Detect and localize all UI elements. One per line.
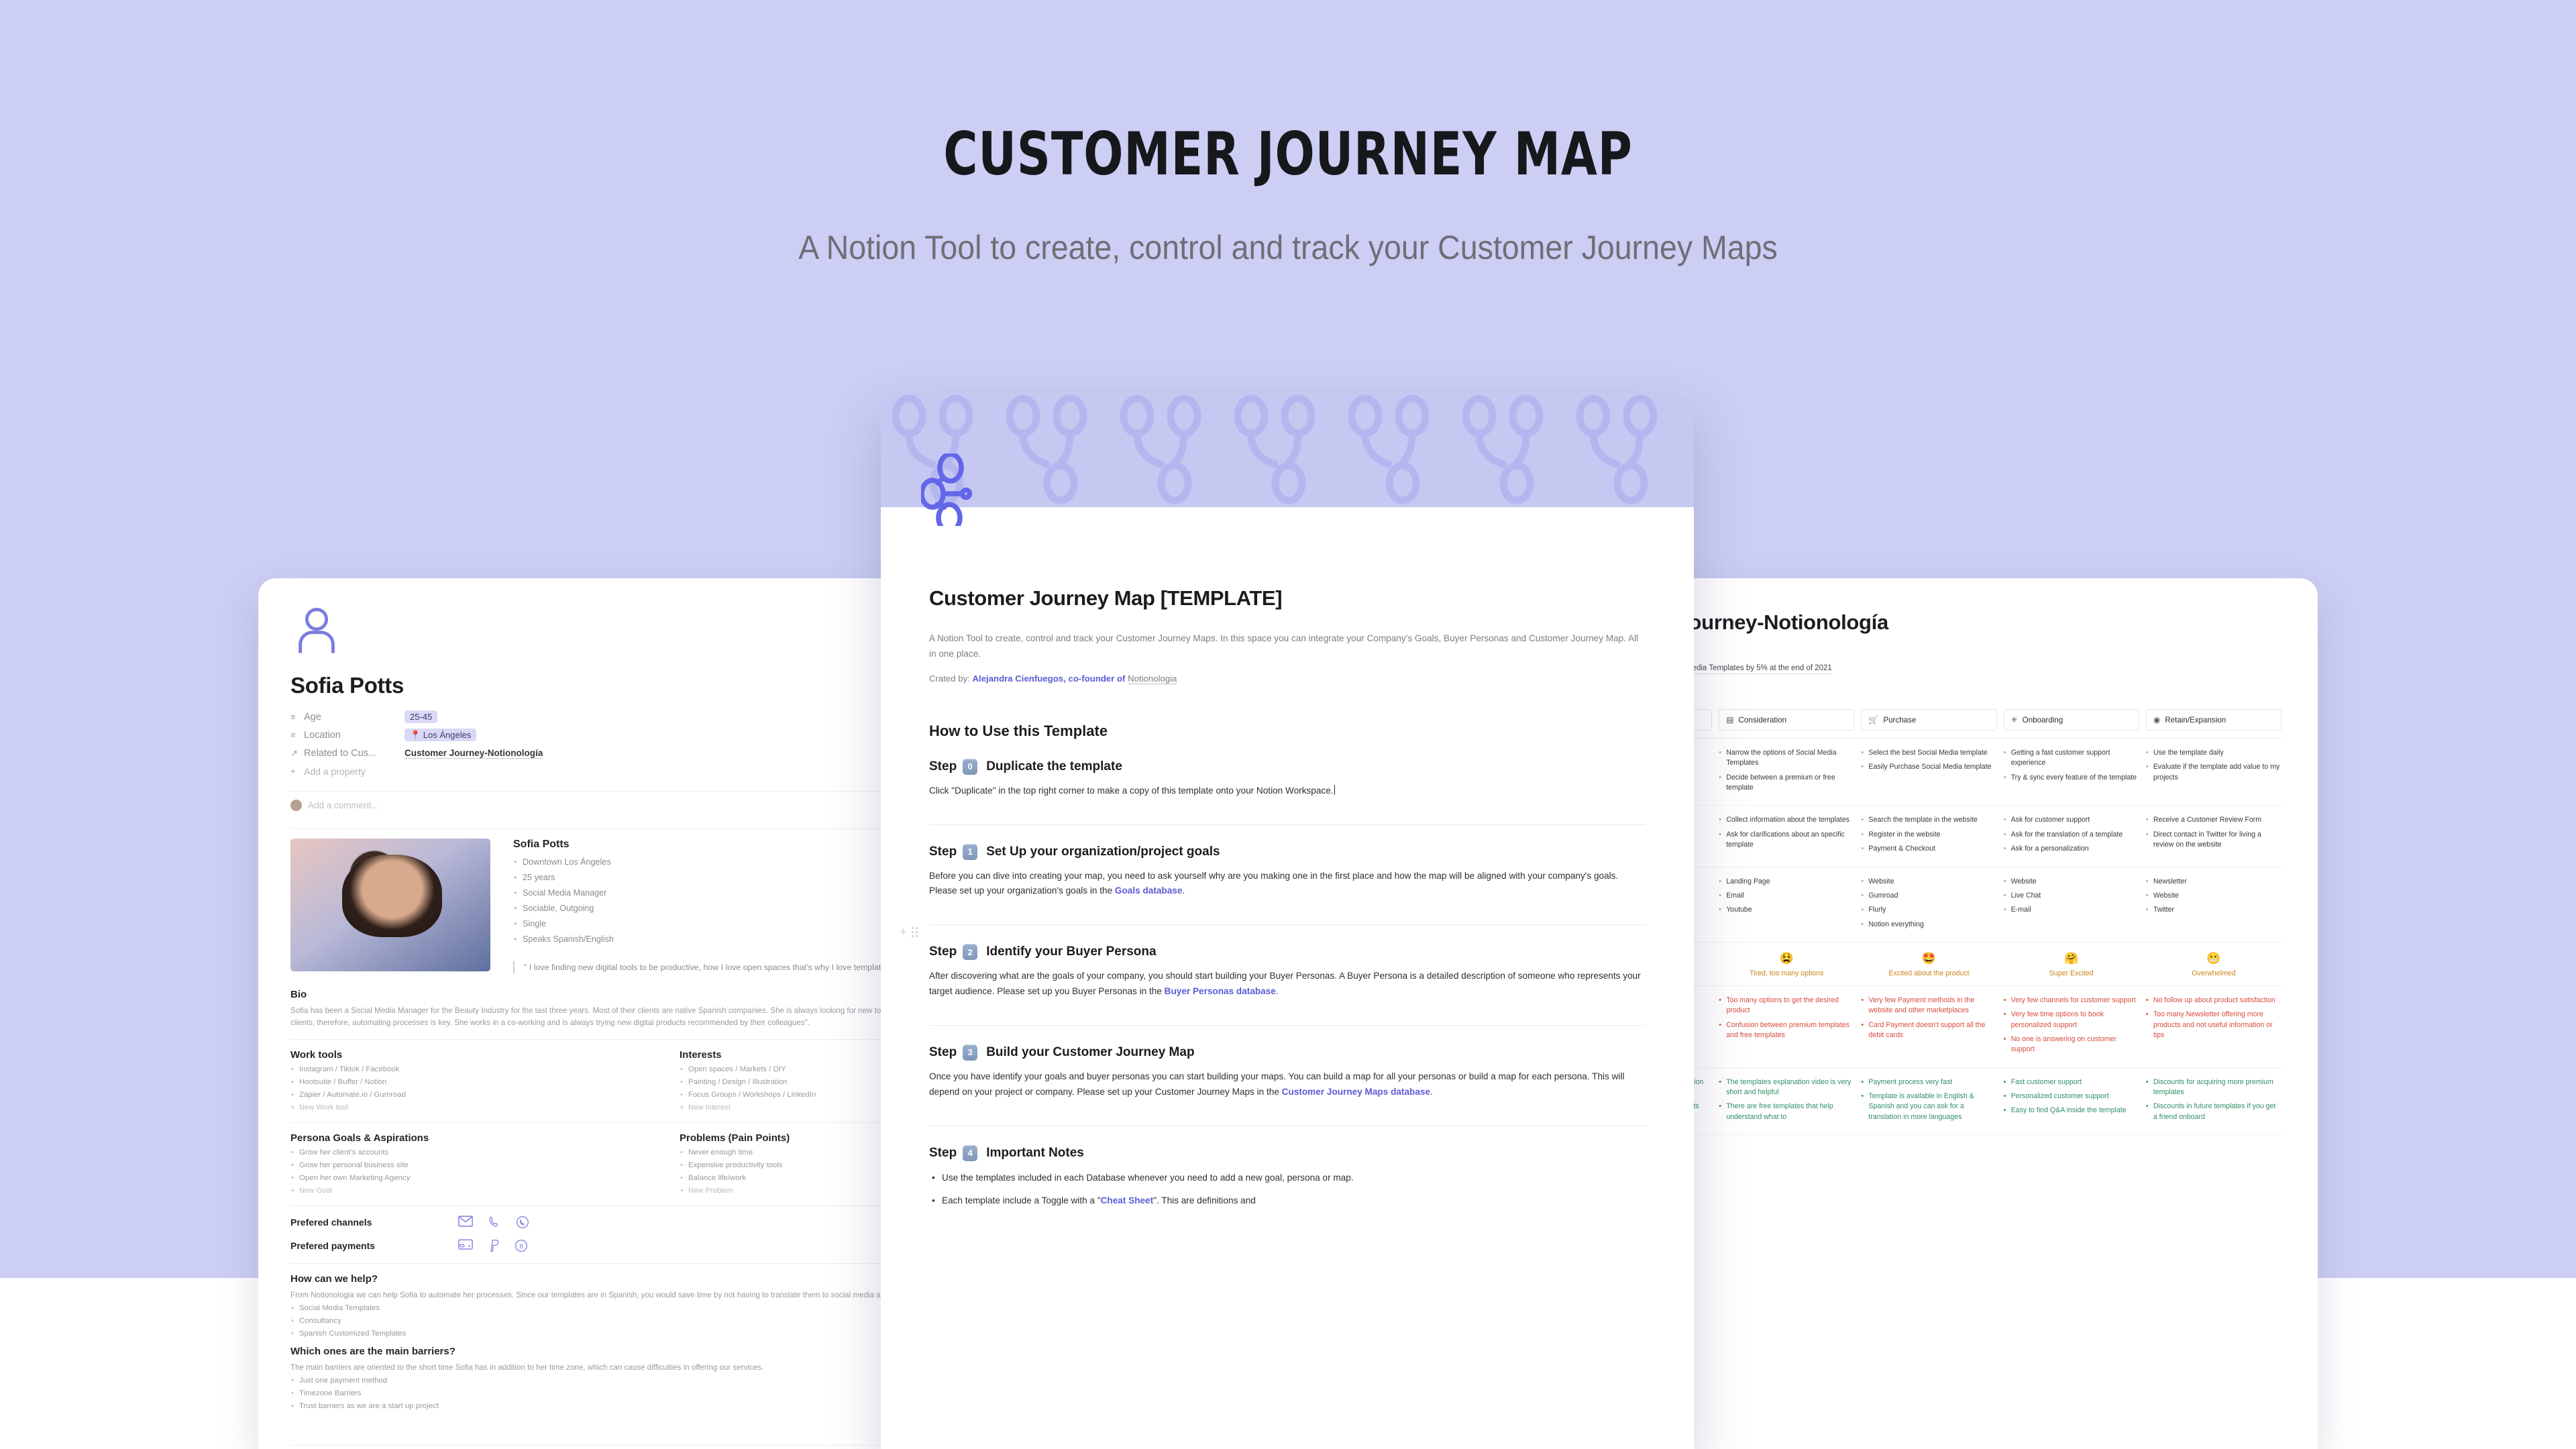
sparkle-icon: ✳ <box>2011 715 2018 724</box>
credit-link[interactable]: Notionologia <box>1128 674 1177 684</box>
list-item: Ask for a personalization <box>2004 844 2139 854</box>
text-cursor <box>1334 785 1336 795</box>
list-item: Very few channels for customer support <box>2004 996 2139 1006</box>
emotion-emoji: 😬 <box>2146 952 2282 965</box>
list-item: Payment process very fast <box>1861 1077 1996 1087</box>
work-tools-title: Work tools <box>290 1049 655 1061</box>
step-title: Build your Customer Journey Map <box>986 1045 1194 1060</box>
credit-author: Alejandra Cienfuegos, co-founder of <box>973 674 1126 684</box>
step-number-badge: 2 <box>963 944 977 960</box>
journey-cell[interactable]: WebsiteGumroadFlurlyNotion everything <box>1861 877 1996 934</box>
list-item: Very few time options to book personaliz… <box>2004 1010 2139 1030</box>
property-label: Location <box>304 730 405 741</box>
list-item: Narrow the options of Social Media Templ… <box>1719 748 1854 769</box>
cell-list: Landing PageEmailYoutube <box>1719 877 1854 916</box>
emotion-emoji: 🤩 <box>1861 952 1996 965</box>
cell-list: Very few channels for customer supportVe… <box>2004 996 2139 1055</box>
journey-cell[interactable]: Narrow the options of Social Media Templ… <box>1719 748 1854 797</box>
important-notes-list: Use the templates included in each Datab… <box>929 1171 1646 1210</box>
credit-prefix: Crated by: <box>929 674 970 684</box>
step-label: Step <box>929 759 957 774</box>
list-item: Youtube <box>1719 905 1854 915</box>
cell-list: Use the template dailyEvaluate if the te… <box>2146 748 2282 783</box>
journey-cell[interactable]: The templates explanation video is very … <box>1719 1077 1854 1126</box>
step-heading-2: Step2Identify your Buyer Persona <box>929 944 1646 960</box>
stage-label: Onboarding <box>2023 716 2063 724</box>
credit-card-icon[interactable] <box>458 1239 473 1250</box>
step-heading-1: Step1Set Up your organization/project go… <box>929 844 1646 860</box>
list-item: Discounts for acquiring more premium tem… <box>2146 1077 2282 1098</box>
list-item: Twitter <box>2146 905 2282 915</box>
journey-cell[interactable]: Discounts for acquiring more premium tem… <box>2146 1077 2282 1126</box>
cell-list: Payment process very fastTemplate is ava… <box>1861 1077 1996 1122</box>
list-item: Zapier / Automate.io / Gumroad <box>290 1091 655 1099</box>
step-body-3: Once you have identify your goals and bu… <box>929 1069 1646 1100</box>
emotion-label: Super Excited <box>2049 969 2094 977</box>
book-icon: ▤ <box>1726 715 1733 724</box>
emotion-label: Tired, too many options <box>1750 969 1823 977</box>
step-body-1: Before you can dive into creating your m… <box>929 869 1646 900</box>
list-item: There are free templates that help under… <box>1719 1102 1854 1122</box>
divider <box>929 1126 1646 1126</box>
add-block-icon[interactable]: + <box>900 926 907 938</box>
step-number-badge: 0 <box>963 759 977 775</box>
step-title: Identify your Buyer Persona <box>986 945 1156 959</box>
step-number-badge: 1 <box>963 844 977 860</box>
step-number-badge: 3 <box>963 1044 977 1061</box>
stage-consideration[interactable]: ▤Consideration <box>1719 709 1854 731</box>
list-item: Flurly <box>1861 905 1996 915</box>
step-title: Duplicate the template <box>986 759 1122 774</box>
divider: + <box>929 924 1646 925</box>
list-item: Use the template daily <box>2146 748 2282 758</box>
stage-label: Retain/Expansion <box>2165 716 2226 724</box>
step-link[interactable]: Goals database <box>1115 885 1183 896</box>
list-item: Instagram / Tiktok / Facebook <box>290 1065 655 1073</box>
cell-list: WebsiteGumroadFlurlyNotion everything <box>1861 877 1996 930</box>
steps-container: Step0Duplicate the templateClick "Duplic… <box>929 759 1646 1209</box>
cell-list: NewsletterWebsiteTwitter <box>2146 877 2282 916</box>
list-item: Landing Page <box>1719 877 1854 887</box>
list-item: Fast customer support <box>2004 1077 2139 1087</box>
journey-cell[interactable]: Collect information about the templatesA… <box>1719 815 1854 858</box>
list-item: Collect information about the templates <box>1719 815 1854 825</box>
list-item: Too many options to get the desired prod… <box>1719 996 1854 1016</box>
goals-list: Grow her client's accounts Grow her pers… <box>290 1148 655 1182</box>
list-item: Register in the website <box>1861 830 1996 840</box>
journey-cell[interactable]: 🤗Super Excited <box>2004 952 2139 977</box>
add-goal-button[interactable]: New Goal <box>290 1187 655 1195</box>
relation-link[interactable]: Customer Journey-Notionología <box>405 748 543 759</box>
list-item: Hootsuite / Buffer / Notion <box>290 1078 655 1086</box>
cell-list: Getting a fast customer support experien… <box>2004 748 2139 783</box>
journey-cell[interactable]: Ask for customer supportAsk for the tran… <box>2004 815 2139 858</box>
document-credit: Crated by: Alejandra Cienfuegos, co-foun… <box>929 674 1646 684</box>
cart-icon: 🛒 <box>1868 715 1878 724</box>
svg-text:B: B <box>519 1243 523 1250</box>
step-body-2: After discovering what are the goals of … <box>929 969 1646 1000</box>
list-item: Ask for clarifications about an specific… <box>1719 830 1854 851</box>
add-property-label: Add a property <box>304 766 366 777</box>
bitcoin-icon[interactable]: B <box>515 1239 528 1252</box>
cell-list: Fast customer supportPersonalized custom… <box>2004 1077 2139 1116</box>
divider <box>929 824 1646 825</box>
cell-list: No follow up about product satisfactionT… <box>2146 996 2282 1040</box>
page-title: CUSTOMER JOURNEY MAP <box>154 119 2421 189</box>
page-subtitle: A Notion Tool to create, control and tra… <box>90 228 2485 267</box>
list-item: Search the template in the website <box>1861 815 1996 825</box>
user-avatar-icon <box>290 605 343 657</box>
step-body-0: Click "Duplicate" in the top right corne… <box>929 784 1646 799</box>
journey-cell[interactable]: Very few channels for customer supportVe… <box>2004 996 2139 1059</box>
cell-list: Collect information about the templatesA… <box>1719 815 1854 850</box>
step-link[interactable]: Customer Journey Maps database <box>1282 1087 1430 1097</box>
location-chip: 📍 Los Ángeles <box>405 729 476 741</box>
phone-icon[interactable] <box>488 1216 501 1229</box>
list-item: Each template include a Toggle with a "C… <box>929 1193 1646 1209</box>
block-handle[interactable]: + <box>900 926 918 938</box>
stage-label: Purchase <box>1883 716 1916 724</box>
list-item: Ask for customer support <box>2004 815 2139 825</box>
step-title: Important Notes <box>986 1146 1084 1161</box>
note-link[interactable]: Cheat Sheet <box>1101 1195 1154 1205</box>
journey-cell[interactable]: Receive a Customer Review FormDirect con… <box>2146 815 2282 858</box>
list-item: Payment & Checkout <box>1861 844 1996 854</box>
step-title: Set Up your organization/project goals <box>986 845 1220 859</box>
journey-cell[interactable]: Payment process very fastTemplate is ava… <box>1861 1077 1996 1126</box>
list-item: Template is available in English & Spani… <box>1861 1091 1996 1122</box>
journey-cell[interactable]: Very few Payment methods in the website … <box>1861 996 1996 1059</box>
avatar <box>290 800 302 811</box>
step-label: Step <box>929 1146 957 1161</box>
list-item: Discounts in future templates if you get… <box>2146 1102 2282 1122</box>
cell-list: Receive a Customer Review FormDirect con… <box>2146 815 2282 850</box>
journey-cell[interactable]: Getting a fast customer support experien… <box>2004 748 2139 797</box>
journey-cell[interactable]: 😬Overwhelmed <box>2146 952 2282 977</box>
list-item: Newsletter <box>2146 877 2282 887</box>
list-item: The templates explanation video is very … <box>1719 1077 1854 1098</box>
emotion-emoji: 🤗 <box>2004 952 2139 965</box>
list-item: Ask for the translation of a template <box>2004 830 2139 840</box>
list-item: Receive a Customer Review Form <box>2146 815 2282 825</box>
work-tools-list: Instagram / Tiktok / Facebook Hootsuite … <box>290 1065 655 1099</box>
template-document-card[interactable]: Customer Journey Map [TEMPLATE] A Notion… <box>881 394 1694 1449</box>
text-property-icon: ≡ <box>290 730 304 740</box>
list-item: Grow her personal business site <box>290 1161 655 1169</box>
step-heading-0: Step0Duplicate the template <box>929 759 1646 775</box>
list-item: Website <box>1861 877 1996 887</box>
document-lead: A Notion Tool to create, control and tra… <box>929 631 1646 662</box>
journey-cell[interactable]: No follow up about product satisfactionT… <box>2146 996 2282 1059</box>
step-label: Step <box>929 1045 957 1060</box>
drag-handle-icon[interactable] <box>912 927 918 937</box>
list-item: Decide between a premium or free templat… <box>1719 773 1854 794</box>
cell-list: Very few Payment methods in the website … <box>1861 996 1996 1040</box>
list-item: Try & sync every feature of the template <box>2004 773 2139 783</box>
journey-cell[interactable]: 😫Tired, too many options <box>1719 952 1854 977</box>
cell-list: Narrow the options of Social Media Templ… <box>1719 748 1854 793</box>
paypal-icon[interactable] <box>488 1239 500 1252</box>
step-number-badge: 4 <box>963 1145 977 1161</box>
email-icon[interactable] <box>458 1216 473 1227</box>
cover-image <box>881 394 1694 507</box>
cover-pattern <box>881 394 1694 507</box>
document-title: Customer Journey Map [TEMPLATE] <box>929 586 1646 610</box>
list-item: Website <box>2004 877 2139 887</box>
property-label: Age <box>304 712 405 722</box>
list-item: Personalized customer support <box>2004 1091 2139 1102</box>
journey-cell[interactable]: Too many options to get the desired prod… <box>1719 996 1854 1059</box>
journey-cell[interactable]: Fast customer supportPersonalized custom… <box>2004 1077 2139 1126</box>
age-chip: 25-45 <box>405 710 437 723</box>
list-item: Grow her client's accounts <box>290 1148 655 1157</box>
journey-cell[interactable]: Search the template in the websiteRegist… <box>1861 815 1996 858</box>
list-item: Too many Newsletter offering more produc… <box>2146 1010 2282 1040</box>
list-item: Website <box>2146 891 2282 901</box>
stage-retain-expansion[interactable]: ◉Retain/Expansion <box>2146 709 2282 731</box>
journey-cell[interactable]: NewsletterWebsiteTwitter <box>2146 877 2282 934</box>
list-item: Very few Payment methods in the website … <box>1861 996 1996 1016</box>
list-item: Live Chat <box>2004 891 2139 901</box>
step-heading-3: Step3Build your Customer Journey Map <box>929 1044 1646 1061</box>
step-label: Step <box>929 845 957 859</box>
emotion-emoji: 😫 <box>1719 952 1854 965</box>
persona-photo <box>290 839 490 971</box>
journey-cell[interactable]: 🤩Excited about the product <box>1861 952 1996 977</box>
journey-cell[interactable]: Landing PageEmailYoutube <box>1719 877 1854 934</box>
list-item: Confusion between premium templates and … <box>1719 1020 1854 1041</box>
add-work-tool-button[interactable]: New Work tool <box>290 1104 655 1112</box>
list-item: E-mail <box>2004 905 2139 915</box>
stage-onboarding[interactable]: ✳Onboarding <box>2004 709 2139 731</box>
divider <box>929 1025 1646 1026</box>
journey-cell[interactable]: Use the template dailyEvaluate if the te… <box>2146 748 2282 797</box>
stage-purchase[interactable]: 🛒Purchase <box>1861 709 1996 731</box>
prefered-payments-label: Prefered payments <box>290 1240 458 1251</box>
journey-cell[interactable]: Select the best Social Media templateEas… <box>1861 748 1996 797</box>
emotion-label: Overwhelmed <box>2192 969 2235 977</box>
relation-property-icon: ↗ <box>290 748 304 759</box>
cell-list: Discounts for acquiring more premium tem… <box>2146 1077 2282 1122</box>
cell-list: The templates explanation video is very … <box>1719 1077 1854 1122</box>
list-item: Card Payment doesn't support all the deb… <box>1861 1020 1996 1041</box>
journey-cell[interactable]: WebsiteLive ChatE-mail <box>2004 877 2139 934</box>
stage-label: Consideration <box>1739 716 1787 724</box>
cell-list: Select the best Social Media templateEas… <box>1861 748 1996 773</box>
property-label: Related to Cus... <box>304 748 405 759</box>
cell-list: Ask for customer supportAsk for the tran… <box>2004 815 2139 854</box>
cell-list: WebsiteLive ChatE-mail <box>2004 877 2139 916</box>
list-item: Gumroad <box>1861 891 1996 901</box>
list-item: Notion everything <box>1861 920 1996 930</box>
emotion-label: Excited about the product <box>1888 969 1969 977</box>
list-item: Evaluate if the template add value to my… <box>2146 762 2282 783</box>
target-icon: ◉ <box>2153 715 2160 724</box>
list-item: Getting a fast customer support experien… <box>2004 748 2139 769</box>
add-comment-label: Add a comment... <box>308 800 379 810</box>
how-to-use-heading: How to Use this Template <box>929 722 1646 740</box>
list-item: Select the best Social Media template <box>1861 748 1996 758</box>
step-link[interactable]: Buyer Personas database <box>1165 986 1276 996</box>
goals-title: Persona Goals & Aspirations <box>290 1132 655 1144</box>
list-item: Easy to find Q&A inside the template <box>2004 1106 2139 1116</box>
cell-list: Too many options to get the desired prod… <box>1719 996 1854 1040</box>
list-item: Email <box>1719 891 1854 901</box>
list-item: Open her own Marketing Agency <box>290 1174 655 1182</box>
list-item: Direct contact in Twitter for living a r… <box>2146 830 2282 851</box>
list-item: No follow up about product satisfaction <box>2146 996 2282 1006</box>
prefered-channels-label: Prefered channels <box>290 1217 458 1228</box>
step-heading-4: Step4Important Notes <box>929 1145 1646 1161</box>
list-item: No one is answering on customer support <box>2004 1034 2139 1055</box>
share-nodes-icon <box>921 453 979 526</box>
list-item: Easily Purchase Social Media template <box>1861 762 1996 772</box>
plus-icon: + <box>290 766 304 776</box>
list-item: Use the templates included in each Datab… <box>929 1171 1646 1186</box>
whatsapp-icon[interactable] <box>516 1216 529 1229</box>
cell-list: Search the template in the websiteRegist… <box>1861 815 1996 854</box>
text-property-icon: ≡ <box>290 712 304 722</box>
step-label: Step <box>929 945 957 959</box>
